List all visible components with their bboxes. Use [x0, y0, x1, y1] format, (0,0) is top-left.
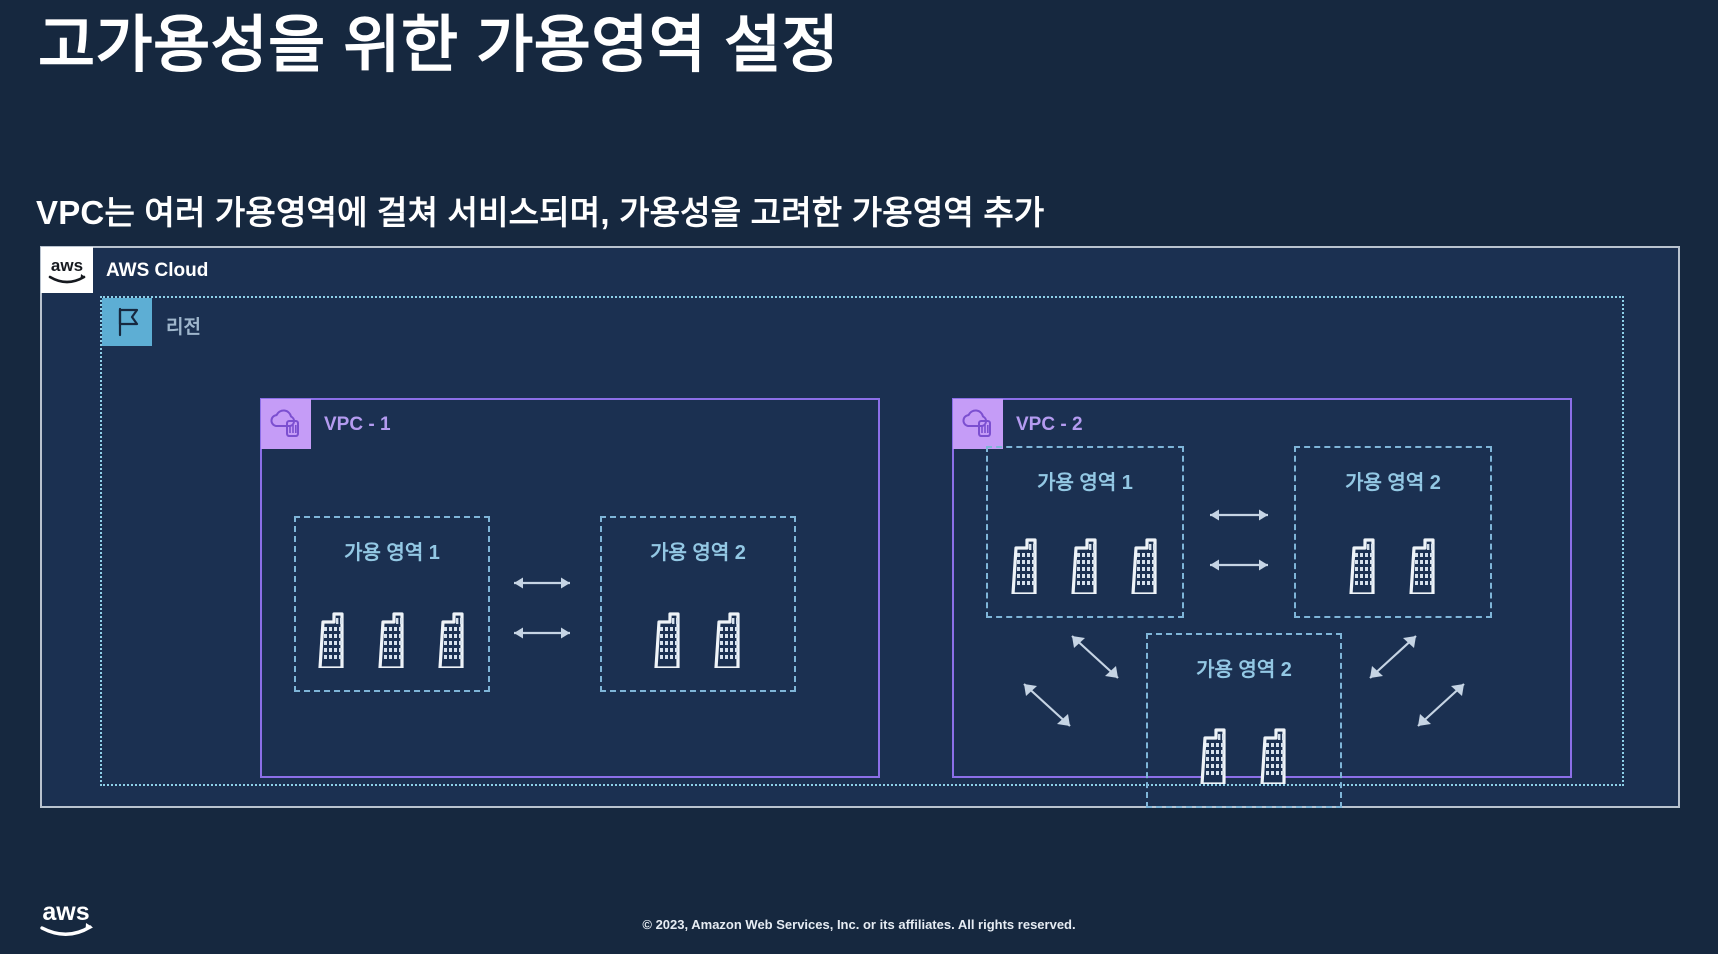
building-icon [646, 606, 690, 668]
diagonal-double-arrow-icon [1408, 674, 1474, 736]
building-icon [1123, 532, 1167, 594]
double-headed-arrow-icon [504, 574, 580, 592]
building-icon [1063, 532, 1107, 594]
building-icon [1401, 532, 1445, 594]
aws-logo-icon: aws [41, 247, 93, 293]
region-label: 리전 [166, 312, 201, 339]
vpc-cloud-icon [953, 399, 1003, 449]
availability-zone-box: 가용 영역 2 [1146, 633, 1342, 808]
svg-text:aws: aws [51, 256, 83, 275]
building-group [296, 606, 488, 668]
building-group [1296, 532, 1490, 594]
availability-zone-label: 가용 영역 2 [1296, 466, 1490, 495]
diagonal-double-arrow-icon [1014, 674, 1080, 736]
building-icon [1003, 532, 1047, 594]
region-container: 리전 VPC - 1 가용 영역 1 [100, 296, 1624, 786]
availability-zone-box: 가용 영역 1 [986, 446, 1184, 618]
availability-zone-box: 가용 영역 1 [294, 516, 490, 692]
availability-zone-box: 가용 영역 2 [600, 516, 796, 692]
building-icon [1252, 722, 1296, 784]
building-icon [1341, 532, 1385, 594]
aws-cloud-container: aws AWS Cloud 리전 [40, 246, 1680, 808]
building-icon [1192, 722, 1236, 784]
availability-zone-box: 가용 영역 2 [1294, 446, 1492, 618]
vpc-label-2: VPC - 2 [1016, 414, 1083, 436]
aws-cloud-label: AWS Cloud [106, 260, 208, 282]
slide-canvas: 고가용성을 위한 가용영역 설정 VPC는 여러 가용영역에 걸쳐 서비스되며,… [0, 0, 1718, 954]
building-icon [706, 606, 750, 668]
vpc-cloud-icon [261, 399, 311, 449]
flag-icon [102, 298, 152, 346]
page-title: 고가용성을 위한 가용영역 설정 [38, 10, 839, 81]
availability-zone-label: 가용 영역 2 [602, 536, 794, 565]
double-headed-arrow-icon [1200, 506, 1278, 524]
copyright-text: © 2023, Amazon Web Services, Inc. or its… [0, 917, 1718, 932]
availability-zone-label: 가용 영역 2 [1148, 653, 1340, 682]
double-headed-arrow-icon [504, 624, 580, 642]
availability-zone-label: 가용 영역 1 [296, 536, 488, 565]
building-group [602, 606, 794, 668]
building-icon [430, 606, 474, 668]
building-group [988, 532, 1182, 594]
availability-zone-label: 가용 영역 1 [988, 466, 1182, 495]
building-group [1148, 722, 1340, 784]
double-headed-arrow-icon [1200, 556, 1278, 574]
page-subtitle: VPC는 여러 가용영역에 걸쳐 서비스되며, 가용성을 고려한 가용영역 추가 [36, 186, 1044, 234]
vpc-label-1: VPC - 1 [324, 414, 391, 436]
building-icon [310, 606, 354, 668]
building-icon [370, 606, 414, 668]
